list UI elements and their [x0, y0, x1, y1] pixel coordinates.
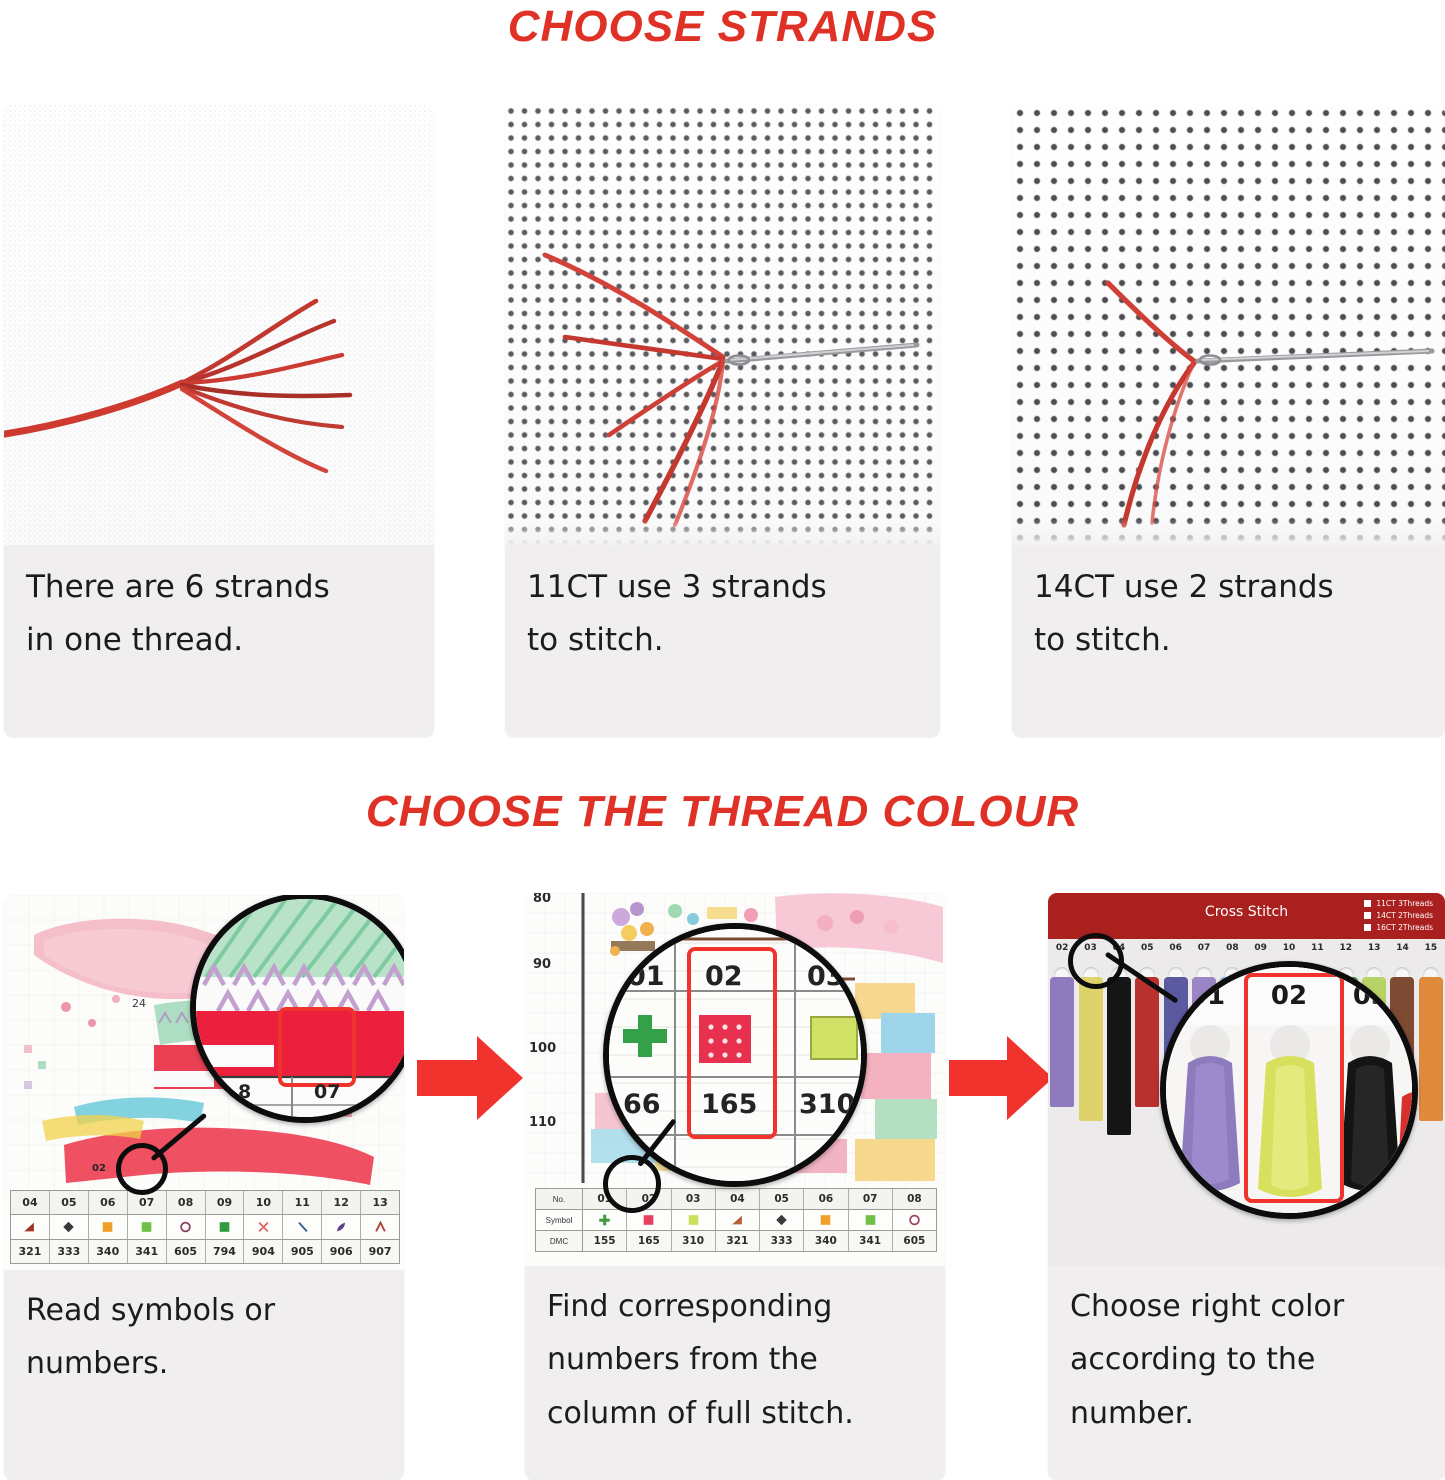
caption-line-2: numbers. — [26, 1337, 384, 1390]
thread-number: 13 — [1360, 943, 1388, 959]
legend-number-cell: 605 — [167, 1240, 206, 1263]
magnifier-skein-col-01: 01 — [1166, 967, 1248, 1213]
legend-number-cell: 310 — [672, 1231, 716, 1251]
legend-number-cell: 333 — [50, 1240, 89, 1263]
caption-choose-color: Choose right color according to the numb… — [1048, 1266, 1445, 1450]
y-label-90: 90 — [533, 957, 551, 972]
legend-number-cell: 321 — [11, 1240, 50, 1263]
card-11ct-3-strands: 11CT use 3 strands to stitch. — [505, 105, 940, 737]
legend-number-cell: 794 — [206, 1240, 245, 1263]
three-strands-with-needle-illustration — [505, 105, 940, 545]
caption-line-1: There are 6 strands — [26, 561, 414, 614]
plus-icon — [597, 1213, 612, 1227]
legend-number-cell: 340 — [89, 1240, 128, 1263]
caption-6-strands: There are 6 strands in one thread. — [4, 545, 434, 678]
card-find-numbers: 80 90 100 110 No. 0102030405060708 Symbo… — [525, 893, 945, 1480]
diamond-icon — [774, 1213, 789, 1227]
circle-outline-icon — [178, 1220, 193, 1234]
magnifier-lens: 8 07 — [190, 895, 404, 1123]
square-red-icon — [641, 1213, 656, 1227]
thread-number: 07 — [1190, 943, 1218, 959]
legend-number-cell: 904 — [244, 1240, 283, 1263]
legend-header-cell: 07 — [128, 1191, 167, 1214]
caption-line-3: column of full stitch. — [547, 1387, 925, 1440]
legend-number-cell: 341 — [849, 1231, 893, 1251]
chart-cell-label-02: 02 — [92, 1163, 106, 1174]
legend-number-row: 321333340341605794904905906907 — [11, 1240, 399, 1263]
caption-line-2: to stitch. — [527, 614, 920, 667]
caption-line-1: Find corresponding — [547, 1280, 925, 1333]
square-green-icon — [139, 1220, 154, 1234]
skein-floss — [1079, 977, 1103, 1121]
legend-symbol-cell — [804, 1210, 848, 1230]
checklist-label: 16CT 2Threads — [1376, 923, 1433, 932]
y-label-80: 80 — [533, 893, 551, 906]
caption-line-1: Read symbols or — [26, 1284, 384, 1337]
thread-number: 14 — [1388, 943, 1416, 959]
magnifier-col-01: 01 — [627, 961, 665, 992]
card-choose-color: Cross Stitch 11CT 3Threads 14CT 2Threads… — [1048, 893, 1445, 1480]
legend-number-cell: 907 — [361, 1240, 399, 1263]
thread-number: 09 — [1247, 943, 1275, 959]
card-read-symbols: 24 02 — [4, 895, 404, 1480]
thread-skein[interactable] — [1133, 959, 1161, 1266]
legend-number-cell: 333 — [760, 1231, 804, 1251]
skein-floss — [1107, 977, 1131, 1135]
page-title-choose-strands: CHOOSE STRANDS — [0, 2, 1445, 52]
legend-number-cell: 605 — [893, 1231, 936, 1251]
highlight-box-3 — [1244, 973, 1344, 1203]
photo-pattern-chart: 24 02 — [4, 895, 404, 1270]
caption-line-2: according to the — [1070, 1333, 1425, 1386]
caption-line-2: numbers from the — [547, 1333, 925, 1386]
legend-header-cell: 03 — [672, 1189, 716, 1209]
y-label-100: 100 — [529, 1041, 556, 1056]
square-green-icon — [863, 1213, 878, 1227]
thread-number: 12 — [1332, 943, 1360, 959]
caption-read-symbols: Read symbols or numbers. — [4, 1270, 404, 1401]
caption-14ct: 14CT use 2 strands to stitch. — [1012, 545, 1445, 678]
legend-row-label-no: No. — [536, 1189, 583, 1209]
legend-symbol-cell — [760, 1210, 804, 1230]
legend-symbol-cell — [206, 1215, 245, 1238]
legend-header-cell: 07 — [849, 1189, 893, 1209]
legend-number-cell: 165 — [627, 1231, 671, 1251]
legend-symbol-cell — [128, 1215, 167, 1238]
thread-number: 11 — [1303, 943, 1331, 959]
legend-number-cell: 905 — [283, 1240, 322, 1263]
magnifier-col-03: 03 — [807, 961, 845, 992]
square-yellowgreen-icon — [686, 1213, 701, 1227]
legend-symbol-cell — [716, 1210, 760, 1230]
pattern-chart: 24 02 — [4, 895, 404, 1270]
caption-line-2: in one thread. — [26, 614, 414, 667]
thread-skein[interactable] — [1048, 959, 1076, 1266]
symbol-legend-table: 04050607080910111213 3213333403416057949… — [10, 1190, 400, 1264]
checklist-item: 16CT 2Threads — [1364, 923, 1433, 932]
magnifier-source-circle-2 — [603, 1155, 661, 1213]
svg-text:24: 24 — [132, 997, 146, 1010]
y-label-110: 110 — [529, 1115, 556, 1130]
magnifier-lens-2: 01 02 03 66 165 310 — [603, 923, 867, 1187]
triangle-icon — [22, 1220, 37, 1234]
magnifier-content-3: 01 02 03 — [1166, 967, 1412, 1213]
legend-symbol-cell — [627, 1210, 671, 1230]
magnifier-lens-3: 01 02 03 — [1160, 961, 1418, 1219]
leaf-icon — [334, 1220, 349, 1234]
fabric-fade — [1012, 519, 1445, 545]
caption-line-1: Choose right color — [1070, 1280, 1425, 1333]
magnifier-num-66: 66 — [623, 1089, 661, 1120]
photo-thread-card: Cross Stitch 11CT 3Threads 14CT 2Threads… — [1048, 893, 1445, 1266]
right-arrow-icon-1 — [415, 1030, 525, 1126]
page-title-choose-thread-colour: CHOOSE THE THREAD COLOUR — [0, 787, 1445, 837]
card-14ct-2-strands: 14CT use 2 strands to stitch. — [1012, 105, 1445, 737]
checkbox-icon[interactable] — [1364, 924, 1371, 931]
thread-number: 15 — [1417, 943, 1445, 959]
thread-number: 05 — [1133, 943, 1161, 959]
infographic-page: CHOOSE STRANDS There are 6 strands in on… — [0, 0, 1445, 1480]
caret-icon — [373, 1220, 388, 1234]
thread-number: 08 — [1218, 943, 1246, 959]
legend-row-label-dmc: DMC — [536, 1231, 583, 1251]
legend-symbol-cell — [89, 1215, 128, 1238]
diamond-icon — [61, 1220, 76, 1234]
caption-line-1: 11CT use 3 strands — [527, 561, 920, 614]
legend-symbol-cell — [244, 1215, 283, 1238]
circle-outline-icon — [907, 1213, 922, 1227]
legend-header-cell: 10 — [244, 1191, 283, 1214]
thread-card-checklist: 11CT 3Threads 14CT 2Threads 16CT 2Thread… — [1364, 899, 1433, 932]
legend-header-cell: 06 — [804, 1189, 848, 1209]
slash-icon — [295, 1220, 310, 1234]
legend-symbol-cell — [893, 1210, 936, 1230]
magnifier-content-2: 01 02 03 66 165 310 — [609, 929, 861, 1181]
photo-14ct-aida — [1012, 105, 1445, 545]
legend-symbol-cell — [583, 1210, 627, 1230]
checklist-item: 14CT 2Threads — [1364, 911, 1433, 920]
magnifier-label-left: 8 — [238, 1081, 251, 1103]
legend-symbol-cell — [849, 1210, 893, 1230]
thread-skein[interactable] — [1417, 959, 1445, 1266]
card-there-are-6-strands: There are 6 strands in one thread. — [4, 105, 434, 737]
legend-symbol-cell — [322, 1215, 361, 1238]
legend-number-cell: 341 — [128, 1240, 167, 1263]
full-stitch-chart: 80 90 100 110 No. 0102030405060708 Symbo… — [525, 893, 945, 1266]
square-orange-icon — [100, 1220, 115, 1234]
cross-x-icon — [256, 1220, 271, 1234]
checklist-label: 11CT 3Threads — [1376, 899, 1433, 908]
legend-header-cell: 04 — [11, 1191, 50, 1214]
caption-find-numbers: Find corresponding numbers from the colu… — [525, 1266, 945, 1450]
legend-header-cell: 05 — [50, 1191, 89, 1214]
thread-skein[interactable] — [1105, 959, 1133, 1266]
photo-11ct-aida — [505, 105, 940, 545]
legend-number-cell: 155 — [583, 1231, 627, 1251]
legend-number-cell: 906 — [322, 1240, 361, 1263]
photo-6-strands — [4, 105, 434, 545]
legend-header-cell: 09 — [206, 1191, 245, 1214]
magnifier-source-circle — [116, 1143, 168, 1195]
caption-line-3: number. — [1070, 1387, 1425, 1440]
square-orange-icon — [818, 1213, 833, 1227]
magnifier-content: 8 07 — [196, 899, 404, 1117]
legend-header-cell: 08 — [167, 1191, 206, 1214]
skein-floss — [1050, 977, 1074, 1107]
thread-number: 06 — [1161, 943, 1189, 959]
right-arrow-icon-2 — [947, 1030, 1055, 1126]
checkbox-icon[interactable] — [1364, 900, 1371, 907]
two-strands-with-needle-illustration — [1012, 105, 1445, 545]
needle — [727, 345, 917, 365]
thread-number: 10 — [1275, 943, 1303, 959]
legend-symbol-row — [11, 1215, 399, 1239]
legend-number-cell: 340 — [804, 1231, 848, 1251]
needle — [1198, 351, 1432, 365]
six-strands-illustration — [4, 105, 434, 545]
legend-number-cell: 321 — [716, 1231, 760, 1251]
checkbox-icon[interactable] — [1364, 912, 1371, 919]
legend-symbol-cell — [50, 1215, 89, 1238]
checklist-item: 11CT 3Threads — [1364, 899, 1433, 908]
legend-symbol-cells — [583, 1210, 936, 1230]
legend-symbol-cell — [672, 1210, 716, 1230]
legend-header-cell: 05 — [760, 1189, 804, 1209]
legend-symbol-cell — [361, 1215, 399, 1238]
caption-line-1: 14CT use 2 strands — [1034, 561, 1425, 614]
legend-header-cell: 08 — [893, 1189, 936, 1209]
caption-line-2: to stitch. — [1034, 614, 1425, 667]
legend-header-cell: 04 — [716, 1189, 760, 1209]
legend-header-cell: 06 — [89, 1191, 128, 1214]
legend-header-cell: 11 — [283, 1191, 322, 1214]
triangle-icon — [730, 1213, 745, 1227]
fabric-fade — [505, 519, 940, 545]
caption-11ct: 11CT use 3 strands to stitch. — [505, 545, 940, 678]
legend-header-cell: 12 — [322, 1191, 361, 1214]
legend-symbol-cell — [11, 1215, 50, 1238]
magnifier-source-circle-3 — [1068, 933, 1124, 989]
legend-header-cell: 13 — [361, 1191, 399, 1214]
highlight-box-2 — [687, 947, 777, 1139]
legend-symbol-cell — [167, 1215, 206, 1238]
legend-symbol-cell — [283, 1215, 322, 1238]
skein-floss — [1135, 977, 1159, 1107]
legend-header-row: 04050607080910111213 — [11, 1191, 399, 1215]
checklist-label: 14CT 2Threads — [1376, 911, 1433, 920]
magnifier-label-07: 07 — [314, 1081, 340, 1103]
square-darkgreen-icon — [217, 1220, 232, 1234]
highlight-box — [278, 1007, 356, 1087]
magnifier-num-310: 310 — [799, 1089, 855, 1120]
legend-row-label-symbol: Symbol — [536, 1210, 583, 1230]
photo-full-stitch-chart: 80 90 100 110 No. 0102030405060708 Symbo… — [525, 893, 945, 1266]
thread-skein[interactable] — [1076, 959, 1104, 1266]
skein-floss — [1419, 977, 1443, 1121]
full-stitch-legend-table: No. 0102030405060708 Symbol DMC 15516531… — [535, 1188, 937, 1252]
skein-label-01: 01 — [1166, 981, 1248, 1011]
legend-number-cells: 155165310321333340341605 — [583, 1231, 936, 1251]
